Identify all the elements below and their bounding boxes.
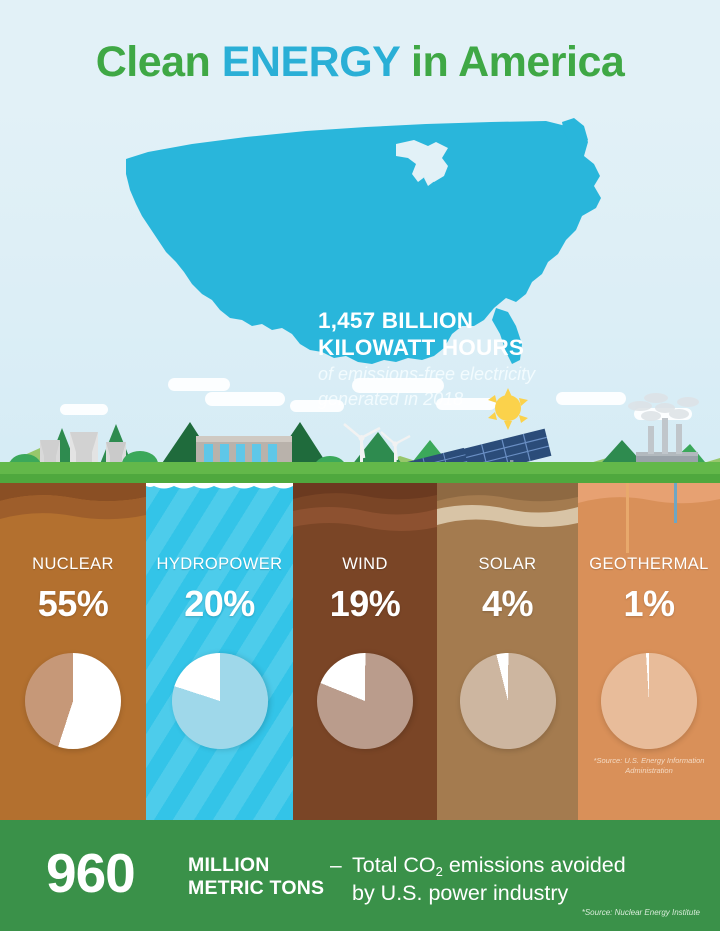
column-label-wind: WIND <box>293 555 437 574</box>
column-label-nuclear: NUCLEAR <box>0 555 146 574</box>
sun-icon <box>488 388 528 430</box>
banner-desc-co2-a: Total CO <box>352 853 436 877</box>
banner-description: Total CO2 emissions avoided by U.S. powe… <box>352 852 626 908</box>
title-word-in-america: in America <box>400 38 625 86</box>
page-title: Clean ENERGY in America <box>0 38 720 87</box>
column-wind[interactable]: WIND 19% <box>293 483 437 820</box>
soil-strata-solar <box>437 483 578 553</box>
banner-desc-line2: by U.S. power industry <box>352 880 626 908</box>
column-label-solar: SOLAR <box>437 555 578 574</box>
pie-chart-solar <box>449 643 565 759</box>
energy-columns: NUCLEAR 55% HYDROPOWER 20% <box>0 483 720 820</box>
column-hydropower[interactable]: HYDROPOWER 20% <box>146 483 293 820</box>
water-stripes <box>146 483 293 820</box>
source-note-eia: *Source: U.S. Energy Information Adminis… <box>578 756 720 776</box>
infographic-root: Clean ENERGY in America 1,457 BILLION KI… <box>0 0 720 931</box>
pie-chart-wind <box>303 639 428 764</box>
column-solar[interactable]: SOLAR 4% <box>437 483 578 820</box>
banner-desc-co2-sub: 2 <box>436 864 443 879</box>
soil-strata-nuclear <box>0 483 146 553</box>
map-headline-1: 1,457 BILLION <box>318 308 618 335</box>
source-note-nei: *Source: Nuclear Energy Institute <box>582 908 700 917</box>
map-headline-2: KILOWATT HOURS <box>318 335 618 362</box>
column-percent-solar: 4% <box>437 583 578 625</box>
us-map: 1,457 BILLION KILOWATT HOURS of emission… <box>96 112 626 387</box>
banner-number: 960 <box>46 846 135 901</box>
title-word-energy: ENERGY <box>222 38 400 86</box>
banner-dash: – <box>330 853 342 880</box>
water-surface <box>146 483 293 491</box>
banner-units: MILLION METRIC TONS <box>188 854 324 901</box>
banner-units-line1: MILLION <box>188 854 324 877</box>
title-word-clean: Clean <box>96 38 222 86</box>
column-label-geothermal: GEOTHERMAL <box>578 555 720 574</box>
banner-units-line2: METRIC TONS <box>188 877 324 900</box>
column-percent-geothermal: 1% <box>578 583 720 625</box>
column-label-hydropower: HYDROPOWER <box>146 555 293 574</box>
pie-chart-nuclear <box>25 653 121 749</box>
soil-strata-wind <box>293 483 437 553</box>
bottom-banner: 960 MILLION METRIC TONS – Total CO2 emis… <box>0 820 720 931</box>
column-percent-nuclear: 55% <box>0 583 146 625</box>
pie-chart-geothermal <box>598 650 700 752</box>
soil-strata-geothermal <box>578 483 720 553</box>
column-geothermal[interactable]: GEOTHERMAL 1% *Source: U.S. Energy Infor… <box>578 483 720 820</box>
column-nuclear[interactable]: NUCLEAR 55% <box>0 483 146 820</box>
column-percent-wind: 19% <box>293 583 437 625</box>
banner-desc-line1: Total CO2 emissions avoided <box>352 852 626 880</box>
banner-desc-co2-b: emissions avoided <box>443 853 626 877</box>
column-percent-hydropower: 20% <box>146 583 293 625</box>
